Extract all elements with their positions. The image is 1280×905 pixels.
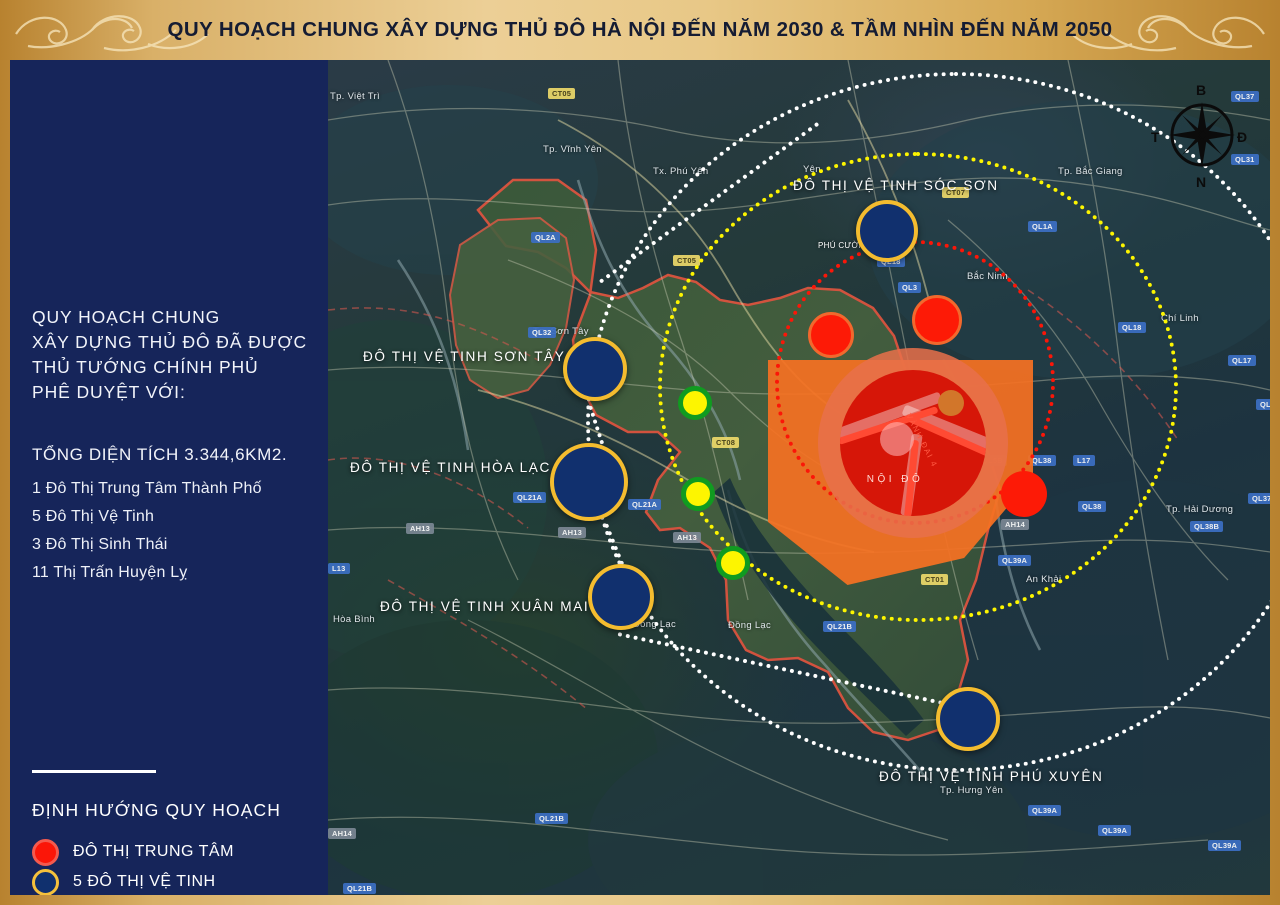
compass-north-label: B [1196, 82, 1206, 98]
map-frame: QUY HOẠCH CHUNG XÂY DỰNG THỦ ĐÔ ĐÃ ĐƯỢC … [10, 60, 1270, 895]
place-label-viet-tri: Tp. Việt Trì [330, 91, 380, 102]
compass-south-label: N [1196, 174, 1206, 190]
callout-xuan-mai: ĐÔ THỊ VỆ TINH XUÂN MAI [380, 599, 589, 614]
page-title: QUY HOẠCH CHUNG XÂY DỰNG THỦ ĐÔ HÀ NỘI Đ… [0, 0, 1280, 60]
marker-satellite-phu-xuyen[interactable] [936, 687, 1000, 751]
inner-city-core: VÀNH ĐAI 4 NỘI ĐÔ [840, 370, 986, 516]
road-badge-ql21a-a: QL21A [513, 492, 546, 503]
road-badge-ql39a-b: QL39A [1028, 805, 1061, 816]
legend: ĐỊNH HƯỚNG QUY HOẠCH ĐÔ THỊ TRUNG TÂM 5 … [32, 770, 317, 895]
callout-phu-xuyen: ĐÔ THỊ VỆ TINH PHÚ XUYÊN [879, 769, 1103, 784]
stat-satellite-cities: 5 Đô Thị Vệ Tinh [32, 503, 322, 531]
intro-line-1: QUY HOẠCH CHUNG [32, 305, 317, 330]
callout-son-tay: ĐÔ THỊ VỆ TINH SƠN TÂY [363, 349, 565, 364]
marker-eco-north[interactable] [678, 386, 712, 420]
callout-hoa-lac: ĐÔ THỊ VỆ TINH HÒA LẠC [350, 460, 551, 475]
legend-swatch-red-icon [32, 839, 59, 866]
legend-label-satellite: 5 ĐÔ THỊ VỆ TINH [73, 873, 216, 891]
legend-item-satellite: 5 ĐÔ THỊ VỆ TINH [32, 867, 317, 895]
road-badge-ql39a-c: QL39A [1098, 825, 1131, 836]
legend-swatch-navy-icon [32, 869, 59, 896]
road-badge-ah14-b: AH14 [328, 828, 356, 839]
stat-eco-cities: 3 Đô Thị Sinh Thái [32, 531, 322, 559]
satellite-map[interactable]: VÀNH ĐAI 4 NỘI ĐÔ ĐÔ THỊ VỆ TINH SÓC SƠN… [328, 60, 1270, 895]
inner-city-noi-do[interactable]: VÀNH ĐAI 4 NỘI ĐÔ [818, 348, 1008, 538]
road-badge-ql2a: QL2A [531, 232, 560, 243]
marker-eco-south[interactable] [716, 546, 750, 580]
place-label-hoa-binh: Hòa Bình [333, 614, 375, 625]
compass-rose: B N Đ T [1153, 82, 1249, 192]
marker-satellite-soc-son[interactable] [856, 200, 918, 262]
place-label-vinh-yen: Tp. Vĩnh Yên [543, 144, 602, 155]
stat-central-city: 1 Đô Thị Trung Tâm Thành Phố [32, 475, 322, 503]
marker-satellite-son-tay[interactable] [563, 337, 627, 401]
intro-line-2: XÂY DỰNG THỦ ĐÔ ĐÃ ĐƯỢC [32, 330, 317, 355]
road-badge-ah13-a: AH13 [406, 523, 434, 534]
infographic-page: QUY HOẠCH CHUNG XÂY DỰNG THỦ ĐÔ HÀ NỘI Đ… [0, 0, 1280, 905]
legend-item-central: ĐÔ THỊ TRUNG TÂM [32, 837, 317, 867]
marker-satellite-hoa-lac[interactable] [550, 443, 628, 521]
compass-west-label: T [1151, 129, 1160, 145]
legend-title: ĐỊNH HƯỚNG QUY HOẠCH [32, 800, 317, 821]
road-badge-ah13-b: AH13 [558, 527, 586, 538]
total-area-label: TỔNG DIỆN TÍCH 3.344,6KM2. [32, 445, 322, 465]
compass-rose-icon [1167, 100, 1237, 170]
marker-core-north[interactable] [912, 295, 962, 345]
road-badge-ql21b-c: QL21B [343, 883, 376, 894]
title-banner: QUY HOẠCH CHUNG XÂY DỰNG THỦ ĐÔ HÀ NỘI Đ… [0, 0, 1280, 60]
compass-east-label: Đ [1237, 129, 1247, 145]
info-sidebar: QUY HOẠCH CHUNG XÂY DỰNG THỦ ĐÔ ĐÃ ĐƯỢC … [10, 60, 328, 895]
road-badge-ql32: QL32 [528, 327, 556, 338]
place-label-hung-yen: Tp. Hưng Yên [940, 785, 1003, 796]
intro-line-4: PHÊ DUYỆT VỚI: [32, 380, 317, 405]
callout-soc-son: ĐÔ THỊ VỆ TINH SÓC SƠN [793, 178, 999, 193]
marker-eco-middle[interactable] [681, 477, 715, 511]
intro-text-block: QUY HOẠCH CHUNG XÂY DỰNG THỦ ĐÔ ĐÃ ĐƯỢC … [32, 305, 317, 405]
inner-city-label: NỘI ĐÔ [840, 474, 968, 485]
road-badge-ct05-a: CT05 [548, 88, 575, 99]
marker-satellite-xuan-mai[interactable] [588, 564, 654, 630]
landmark-dot [938, 390, 964, 416]
road-badge-ql21b-b: QL21B [535, 813, 568, 824]
intro-line-3: THỦ TƯỚNG CHÍNH PHỦ [32, 355, 317, 380]
road-badge-l13: L13 [328, 563, 350, 574]
road-badge-ql39a-d: QL39A [1208, 840, 1241, 851]
marker-core-west[interactable] [808, 312, 854, 358]
legend-divider [32, 770, 156, 773]
legend-label-central: ĐÔ THỊ TRUNG TÂM [73, 843, 234, 861]
stat-district-towns: 11 Thị Trấn Huyện Lỵ [32, 559, 322, 587]
marker-core-east[interactable] [1001, 471, 1047, 517]
statistics-block: TỔNG DIỆN TÍCH 3.344,6KM2. 1 Đô Thị Trun… [32, 445, 322, 587]
